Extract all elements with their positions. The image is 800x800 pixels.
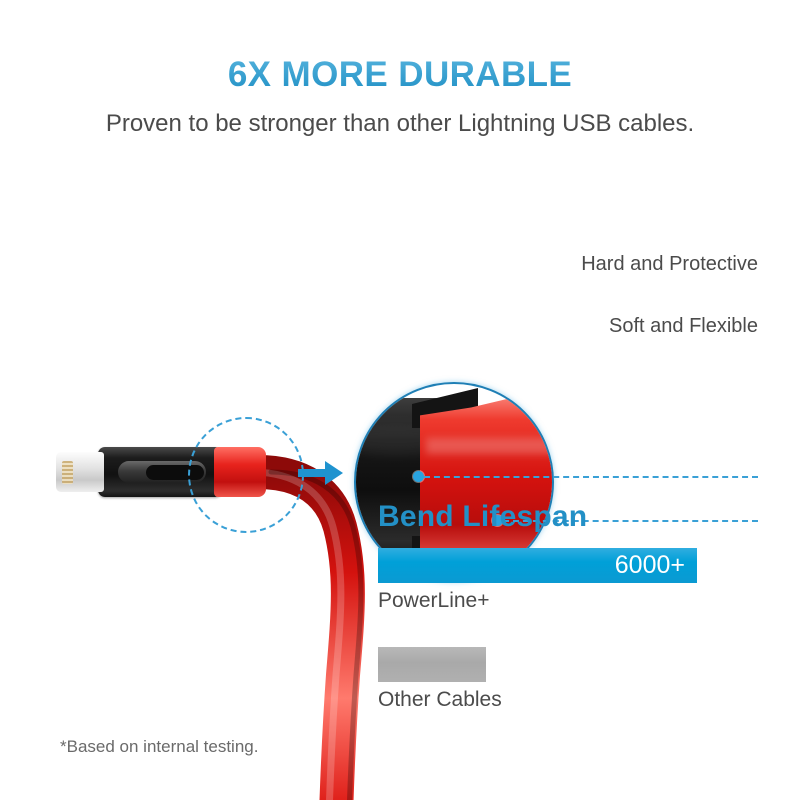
connector-pins <box>62 461 73 484</box>
chart-title: Bend Lifespan <box>378 500 708 534</box>
page-title: 6X MORE DURABLE <box>0 55 800 95</box>
jacket-highlight <box>426 438 554 454</box>
chart-spacer <box>378 613 708 647</box>
dashed-circle-highlight-icon <box>188 417 304 533</box>
product-infographic: 6X MORE DURABLE Proven to be stronger th… <box>0 0 800 800</box>
bend-lifespan-chart: Bend Lifespan 6000+ PowerLine+ Other Cab… <box>378 500 708 712</box>
page-subtitle: Proven to be stronger than other Lightni… <box>0 110 800 138</box>
right-arrow-icon <box>298 460 344 486</box>
callout-label-hard-protective: Hard and Protective <box>548 253 758 276</box>
bar-label-other-cables: Other Cables <box>378 688 708 712</box>
callout-label-soft-flexible: Soft and Flexible <box>548 315 758 338</box>
footnote: *Based on internal testing. <box>60 737 258 757</box>
bar-value-powerline-plus: 6000+ <box>615 551 697 580</box>
bar-powerline-plus: 6000+ <box>378 548 697 583</box>
bar-label-powerline-plus: PowerLine+ <box>378 589 708 613</box>
marker-dot-hard-protective <box>413 471 424 482</box>
bar-other-cables <box>378 647 486 682</box>
leader-line-hard-protective <box>424 476 758 478</box>
